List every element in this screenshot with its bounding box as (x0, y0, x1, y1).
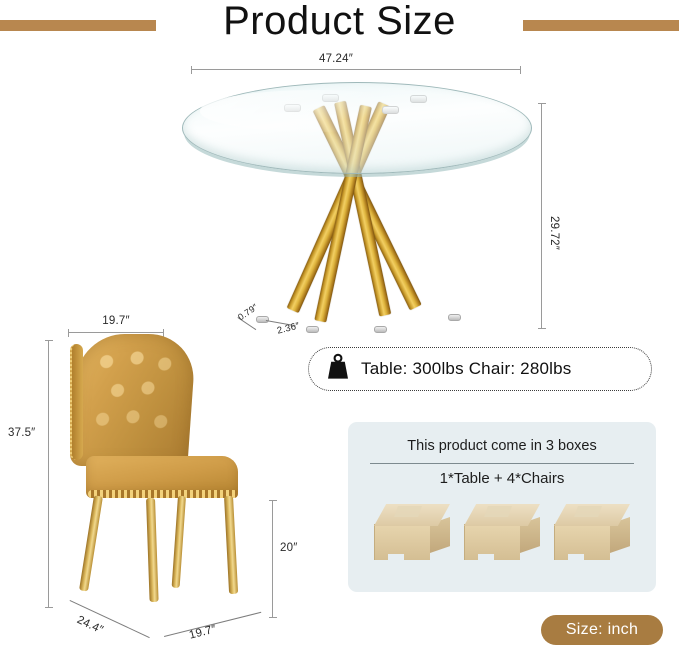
chair-seat-nailhead-trim (88, 490, 238, 498)
table-height-dim-line (541, 103, 542, 329)
table-foot-2 (306, 326, 319, 333)
chair-nailhead-trim (70, 344, 83, 460)
table-illustration (182, 82, 532, 332)
chair-leg-back-right (224, 496, 238, 594)
header: Product Size (0, 0, 679, 46)
size-unit-badge: Size: inch (541, 615, 663, 645)
table-foot-3 (374, 326, 387, 333)
weight-capacity-banner: Table: 300lbs Chair: 280lbs (308, 347, 652, 391)
table-diameter-label: 47.24″ (319, 53, 353, 65)
carton-box (374, 504, 450, 562)
table-height-label: 29.72″ (548, 216, 560, 250)
table-foot-4 (448, 314, 461, 321)
chair-leg-front-left (79, 495, 103, 591)
chair-seat-height-label: 20″ (280, 542, 297, 554)
carton-box (464, 504, 540, 562)
product-size-infographic: Product Size 47.24″ 29.72″ 0.79″ 2.36″ (0, 0, 679, 652)
chair-leg-front-right (146, 498, 159, 602)
packaging-box-count-text: This product come in 3 boxes (348, 438, 656, 454)
chair-bottom-width-label: 19.7″ (188, 623, 218, 641)
carton-box (554, 504, 630, 562)
weight-icon (325, 353, 351, 385)
chair-backrest (69, 334, 196, 466)
packaging-contents-text: 1*Table + 4*Chairs (348, 470, 656, 487)
carton-illustration-row (348, 504, 656, 562)
glass-tabletop (182, 82, 532, 174)
page-title: Product Size (0, 0, 679, 44)
chair-leg-back-left (172, 496, 186, 588)
chair-illustration (60, 330, 275, 620)
table-diameter-dim-line (191, 69, 521, 70)
chair-back-width-label: 19.7″ (102, 315, 129, 327)
packaging-divider (370, 463, 634, 464)
packaging-panel: This product come in 3 boxes 1*Table + 4… (348, 422, 656, 592)
chair-height-dim-line (48, 340, 49, 608)
weight-capacity-text: Table: 300lbs Chair: 280lbs (361, 359, 571, 379)
chair-height-label: 37.5″ (8, 427, 35, 439)
